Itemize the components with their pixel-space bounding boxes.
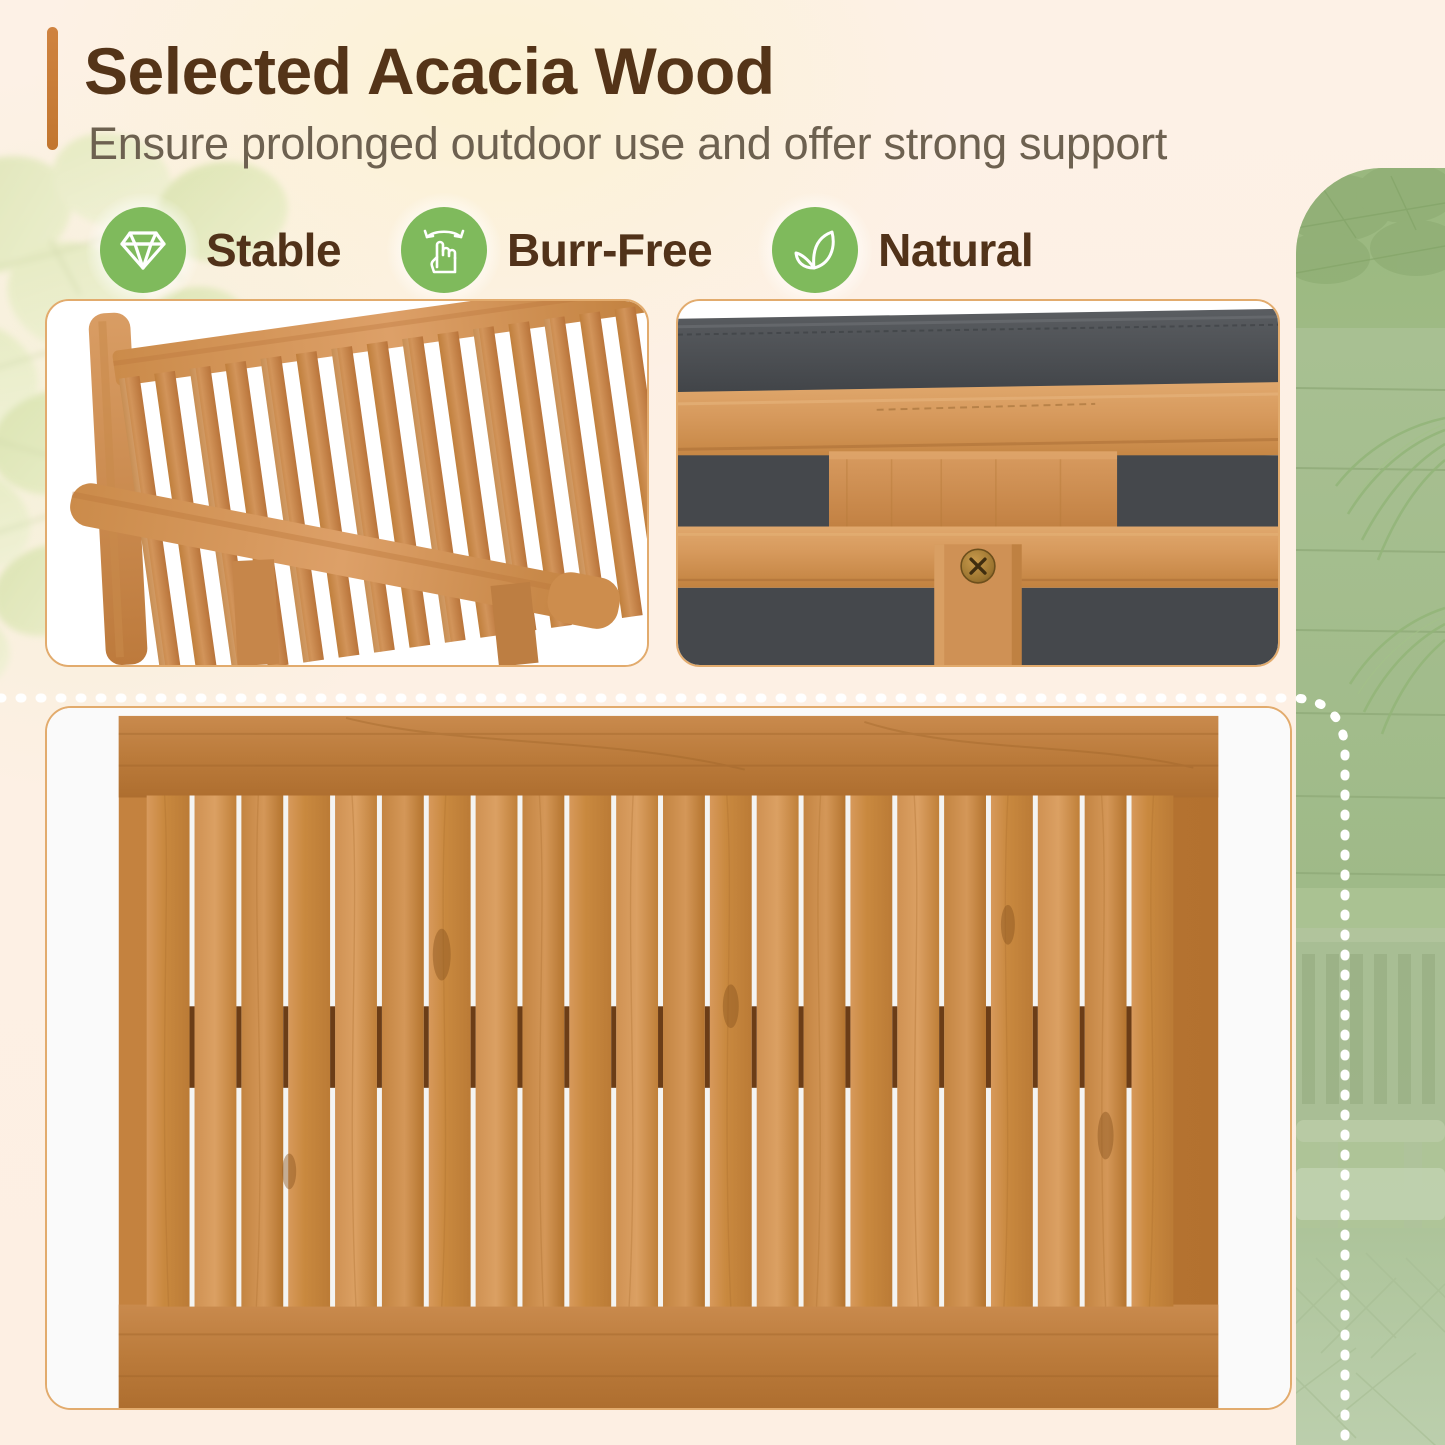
accent-bar bbox=[47, 27, 58, 150]
feature-label: Natural bbox=[878, 223, 1033, 277]
feature-badge-list: Stable bbox=[100, 202, 1033, 298]
bench-backrest-slats-photo bbox=[47, 301, 647, 665]
page-title: Selected Acacia Wood bbox=[84, 33, 775, 109]
feature-badge-natural: Natural bbox=[772, 207, 1033, 293]
page-subtitle: Ensure prolonged outdoor use and offer s… bbox=[88, 118, 1167, 170]
slatted-table-top-photo bbox=[47, 708, 1290, 1408]
diamond-icon bbox=[116, 223, 170, 277]
feature-label: Burr-Free bbox=[507, 223, 712, 277]
leaf-icon bbox=[788, 223, 842, 277]
feature-badge-stable: Stable bbox=[100, 207, 341, 293]
badge-glow bbox=[401, 207, 487, 293]
frame-joint-screw-photo bbox=[678, 301, 1278, 665]
badge-circle bbox=[772, 207, 858, 293]
badge-glow bbox=[772, 207, 858, 293]
feature-badge-burr-free: Burr-Free bbox=[401, 207, 712, 293]
badge-glow bbox=[100, 207, 186, 293]
feature-label: Stable bbox=[206, 223, 341, 277]
photo-card-bench-backrest bbox=[45, 299, 649, 667]
hand-touch-icon bbox=[417, 223, 471, 277]
badge-circle bbox=[401, 207, 487, 293]
photo-card-frame-joint bbox=[676, 299, 1280, 667]
photo-card-table-top bbox=[45, 706, 1292, 1410]
patio-scene-photo bbox=[1296, 168, 1445, 1445]
product-feature-poster: Selected Acacia Wood Ensure prolonged ou… bbox=[0, 0, 1445, 1445]
badge-circle bbox=[100, 207, 186, 293]
